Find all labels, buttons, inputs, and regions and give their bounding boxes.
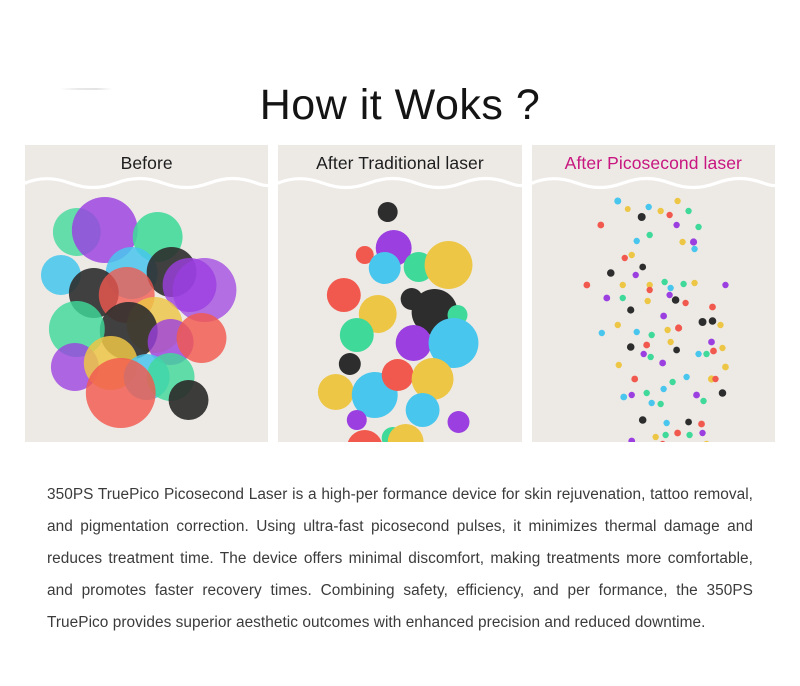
pigment-particle [695,224,701,230]
description-paragraph: 350PS TruePico Picosecond Laser is a hig… [47,479,753,639]
pigment-particle [699,430,705,436]
pigment-particle [708,317,716,325]
particle-field-after-picosecond [532,145,775,442]
pigment-particle [667,285,673,291]
pigment-particle [633,238,639,244]
pigment-particle [643,390,649,396]
pigment-particle [691,246,697,252]
pigment-particle [640,351,646,357]
pigment-particle [719,345,725,351]
pigment-particle [698,421,705,428]
pigment-particle [632,272,638,278]
pigment-particle [645,204,651,210]
pigment-particle [621,255,627,261]
pigment-particle [598,330,604,336]
pigment-particle [619,282,625,288]
pigment-particle [86,358,156,428]
pigment-particle [680,281,686,287]
panel-after-picosecond: After Picosecond laser [532,145,775,442]
pigment-particle [679,239,685,245]
pigment-particle [388,424,424,442]
pigment-particle [659,360,666,367]
panel-after-picosecond-label: After Picosecond laser [532,145,775,181]
pigment-particle [425,241,473,289]
pigment-particle [674,430,681,437]
pigment-particle [628,438,635,442]
pigment-particle [683,374,689,380]
particle-field-before [25,145,268,442]
pigment-particle [644,298,650,304]
pigment-particle [703,441,709,442]
pigment-particle [340,318,374,352]
pigment-particle [673,347,680,354]
pigment-particle [703,351,709,357]
pigment-particle [709,304,716,311]
pigment-particle [652,434,658,440]
pigment-particle [631,376,638,383]
pigment-particle [639,264,646,271]
pigment-particle [662,432,668,438]
pigment-particle [674,198,680,204]
pigment-particle [660,313,667,320]
pigment-particle [396,325,432,361]
pigment-particle [673,222,679,228]
pigment-particle [661,279,667,285]
pigment-particle [712,376,718,382]
pigment-particle [722,282,728,288]
pigment-particle [671,296,679,304]
pigment-particle [448,411,470,433]
pigment-particle [597,222,604,229]
pigment-particle [607,269,615,277]
pigment-particle [603,295,610,302]
pigment-particle [627,343,635,351]
pigment-particle [327,278,361,312]
pigment-particle [693,392,700,399]
pigment-particle [619,295,625,301]
pigment-particle [347,430,383,442]
pigment-particle [648,332,654,338]
pigment-particle [339,353,361,375]
page-title: How it Woks ? [0,81,800,130]
pigment-particle [173,258,237,322]
pigment-particle [643,342,650,349]
pigment-particle [708,339,715,346]
pigment-particle [659,441,665,442]
pigment-particle [647,354,653,360]
pigment-particle [686,432,692,438]
pigment-particle [664,327,670,333]
pigment-particle [347,410,367,430]
pigment-particle [646,232,652,238]
pigment-particle [685,419,692,426]
panel-before: Before [25,145,268,442]
pigment-particle [628,392,634,398]
pigment-particle [698,318,706,326]
pigment-particle [633,329,639,335]
pigment-particle [637,213,645,221]
pigment-particle [660,386,666,392]
pigment-particle [318,374,354,410]
panel-after-traditional-label: After Traditional laser [278,145,521,181]
pigment-particle [648,400,654,406]
pigment-particle [691,280,697,286]
panel-after-traditional: After Traditional laser [278,145,521,442]
pigment-particle [583,282,590,289]
pigment-particle [169,380,209,420]
pigment-particle [378,202,398,222]
pigment-particle [710,348,717,355]
pigment-particle [614,322,620,328]
pigment-particle [639,416,647,424]
panel-before-label: Before [25,145,268,181]
pigment-particle [382,359,414,391]
pigment-particle [685,208,691,214]
pigment-particle [690,238,697,245]
pigment-particle [666,292,672,298]
pigment-particle [718,389,726,397]
pigment-particle [369,252,401,284]
pigment-particle [700,398,706,404]
pigment-particle [620,394,627,401]
pigment-particle [663,420,669,426]
pigment-particle [624,206,630,212]
particle-field-after-traditional [278,145,521,442]
pigment-particle [627,306,634,313]
pigment-particle [657,401,663,407]
pigment-particle [614,198,621,205]
pigment-particle [666,212,672,218]
pigment-particle [657,208,663,214]
pigment-particle [669,379,675,385]
pigment-particle [615,362,621,368]
pigment-particle [646,287,652,293]
pigment-particle [717,322,723,328]
comparison-panel-row: Before After Traditional laser After Pic… [25,145,775,442]
pigment-particle [722,364,729,371]
pigment-particle [667,339,673,345]
pigment-particle [695,351,701,357]
pigment-particle [682,300,688,306]
pigment-particle [177,313,227,363]
pigment-particle [675,324,682,331]
pigment-particle [406,393,440,427]
pigment-particle [628,252,634,258]
